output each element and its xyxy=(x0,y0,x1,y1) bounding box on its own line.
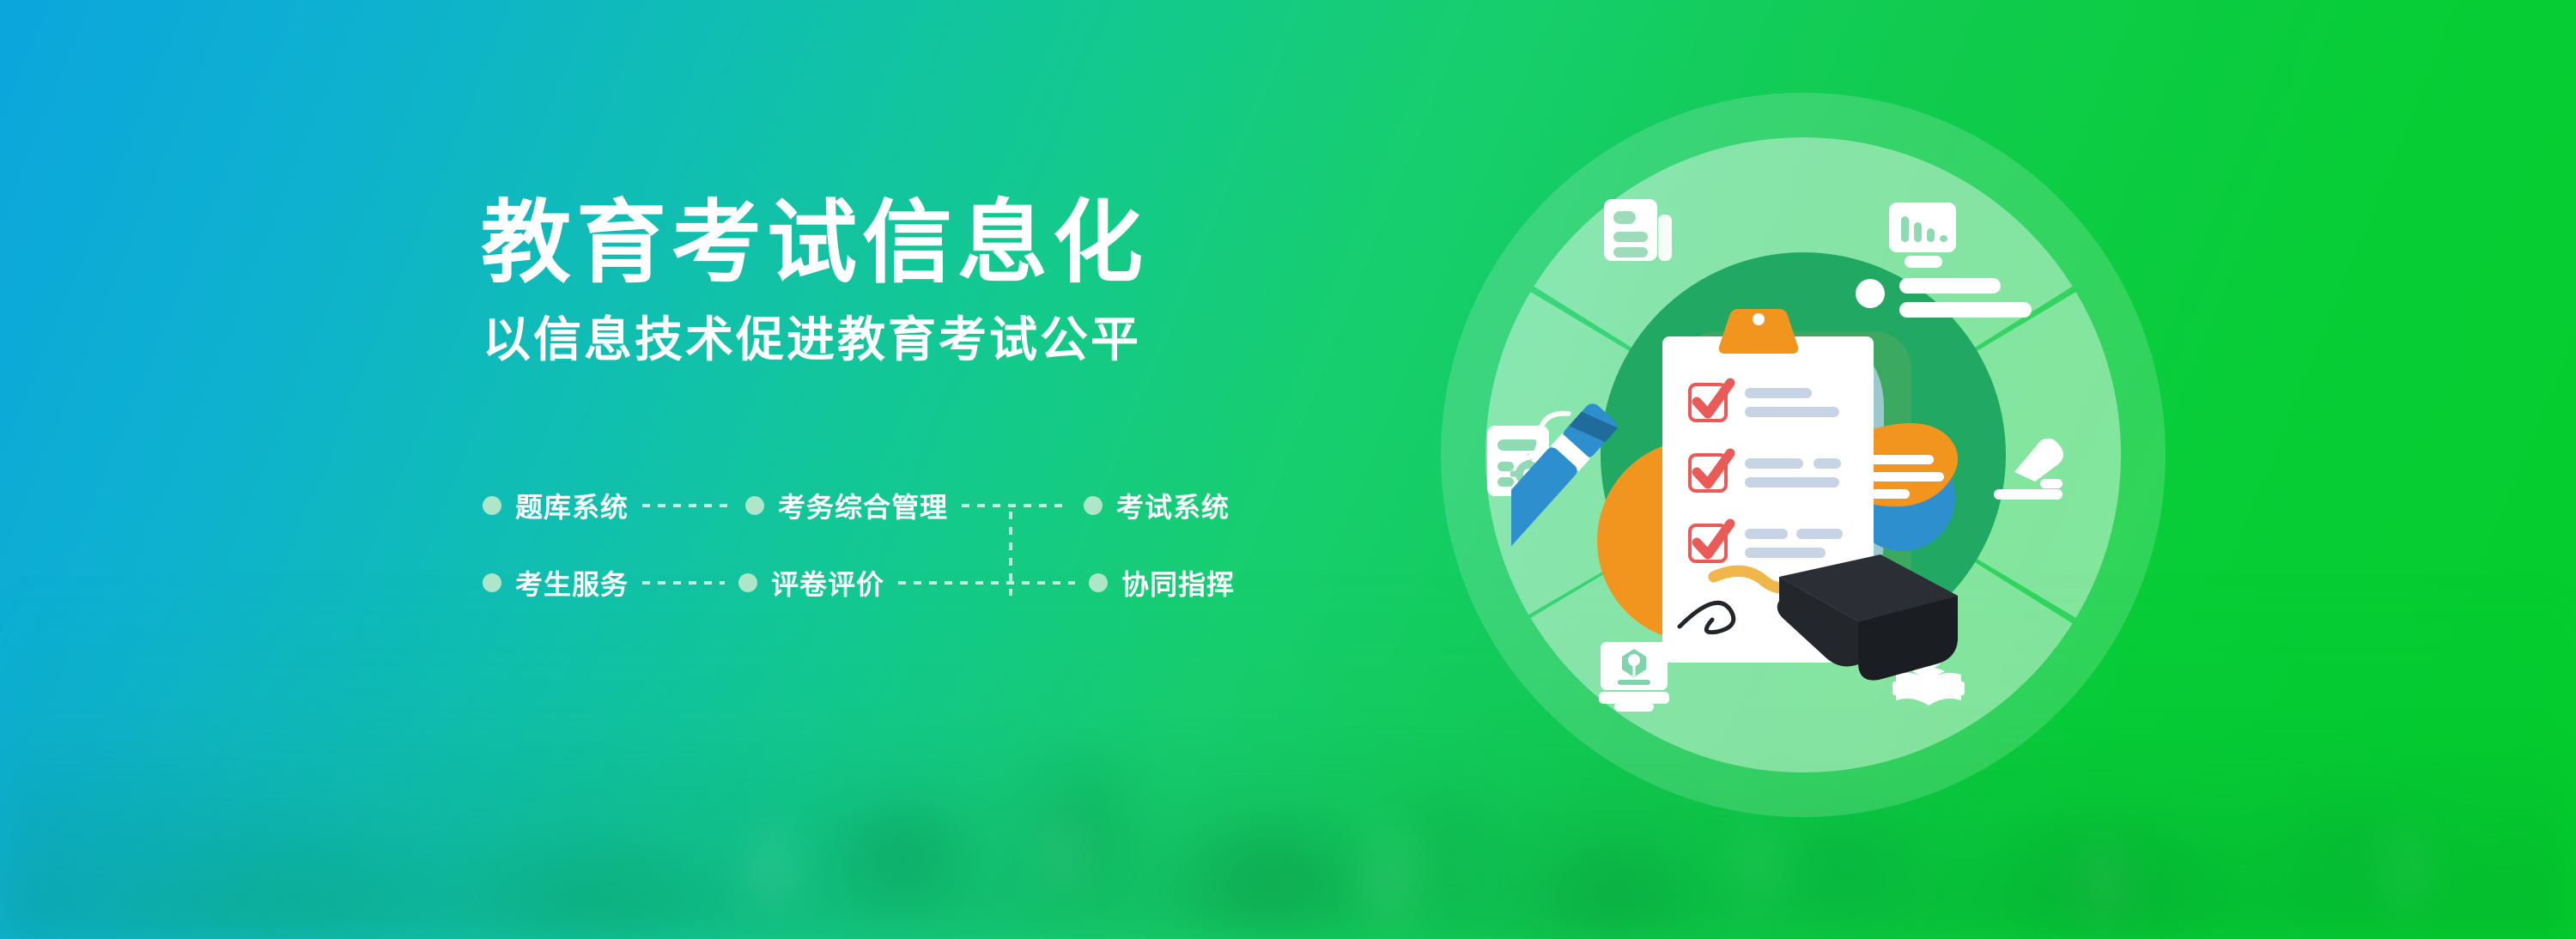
dotted-connector-horizontal xyxy=(962,504,1070,507)
feature-item-candidate-service[interactable]: 考生服务 xyxy=(483,563,629,603)
feature-label: 考试系统 xyxy=(1116,486,1230,525)
blurred-crowd-background xyxy=(0,570,2576,939)
bullet-dot-icon xyxy=(1084,496,1103,515)
bullet-dot-icon xyxy=(483,573,501,592)
pen-icon xyxy=(1511,386,1620,610)
feature-label: 协同指挥 xyxy=(1121,563,1235,603)
feature-list: 题库系统 考务综合管理 考试系统 考生服务 评卷评价 xyxy=(483,486,1195,603)
dotted-connector-horizontal xyxy=(642,581,725,585)
feature-row: 题库系统 考务综合管理 考试系统 xyxy=(483,486,1195,525)
page-title: 教育考试信息化 xyxy=(481,196,1340,290)
feature-item-exam-admin[interactable]: 考务综合管理 xyxy=(745,486,948,525)
feature-item-joint-command[interactable]: 协同指挥 xyxy=(1089,563,1235,603)
bullet-dot-icon xyxy=(745,496,764,515)
bullet-dot-icon xyxy=(738,573,757,592)
feature-row: 考生服务 评卷评价 协同指挥 xyxy=(483,563,1195,603)
dotted-connector-horizontal xyxy=(642,504,732,507)
feature-label: 评卷评价 xyxy=(771,563,884,603)
floating-text-lines xyxy=(1856,278,2032,318)
bullet-dot-icon xyxy=(1089,573,1108,592)
center-illustration xyxy=(1511,172,2095,738)
dotted-connector-horizontal xyxy=(898,581,1075,585)
feature-label: 考务综合管理 xyxy=(778,486,948,525)
feature-item-question-bank[interactable]: 题库系统 xyxy=(483,486,629,525)
hero-banner: 教育考试信息化 以信息技术促进教育考试公平 题库系统 考务综合管理 考试系统 xyxy=(0,0,2576,939)
feature-label: 题库系统 xyxy=(515,486,629,525)
hero-text-panel: 教育考试信息化 以信息技术促进教育考试公平 xyxy=(481,196,1340,367)
feature-item-marking-evaluation[interactable]: 评卷评价 xyxy=(738,563,884,603)
feature-label: 考生服务 xyxy=(515,563,629,603)
bullet-dot-icon xyxy=(483,496,501,515)
page-subtitle: 以信息技术促进教育考试公平 xyxy=(483,314,1340,367)
feature-item-exam-system[interactable]: 考试系统 xyxy=(1084,486,1230,525)
dotted-connector-vertical xyxy=(1009,512,1012,596)
